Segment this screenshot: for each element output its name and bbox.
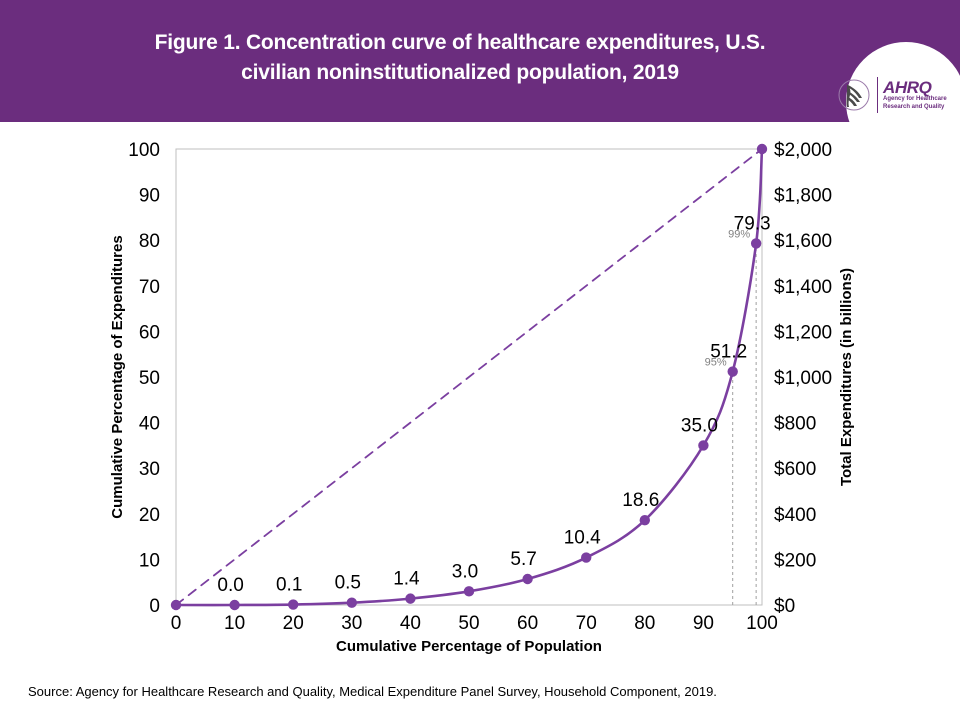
data-point-label: 1.4	[393, 569, 420, 590]
data-point-label: 10.4	[564, 528, 601, 549]
data-point-label: 0.1	[276, 575, 302, 596]
x-axis-tick-label: 90	[693, 613, 714, 634]
data-point-marker	[640, 515, 650, 525]
x-axis-tick-label: 20	[283, 613, 304, 634]
logo-acronym: AHRQ	[883, 79, 954, 96]
x-axis-tick-label: 10	[224, 613, 245, 634]
data-point-marker	[171, 600, 181, 610]
data-point-marker	[698, 440, 708, 450]
y-axis-tick-label: 0	[149, 596, 160, 617]
x-axis-tick-label: 70	[576, 613, 597, 634]
y2-axis-tick-label: $1,200	[774, 322, 832, 343]
y-axis-title: Cumulative Percentage of Expenditures	[109, 235, 126, 518]
y-axis-tick-label: 50	[139, 368, 160, 389]
data-point-marker	[522, 574, 532, 584]
data-point-marker	[405, 593, 415, 603]
page-title: Figure 1. Concentration curve of healthc…	[80, 28, 840, 88]
x-axis-tick-labels: 0102030405060708090100	[171, 613, 778, 634]
y-axis-tick-label: 70	[139, 277, 160, 298]
x-axis-tick-label: 100	[746, 613, 778, 634]
data-point-marker	[728, 366, 738, 376]
page-title-line-1: Figure 1. Concentration curve of healthc…	[80, 28, 840, 58]
y2-axis-tick-label: $1,400	[774, 277, 832, 298]
y-axis-tick-label: 30	[139, 459, 160, 480]
x-axis-tick-label: 40	[400, 613, 421, 634]
x-axis-tick-label: 60	[517, 613, 538, 634]
x-axis-tick-label: 80	[634, 613, 655, 634]
data-point-label: 0.5	[335, 573, 361, 594]
logo-text: AHRQ Agency for Healthcare Research and …	[883, 79, 954, 111]
y-axis-tick-label: 100	[128, 140, 160, 161]
y2-axis-tick-label: $200	[774, 550, 816, 571]
data-point-marker	[288, 599, 298, 609]
data-point-marker	[464, 586, 474, 596]
header-band: Figure 1. Concentration curve of healthc…	[0, 0, 960, 122]
logo-divider	[877, 77, 878, 113]
logo-tagline-line-2: Research and Quality	[883, 104, 954, 112]
hhs-eagle-mark-icon	[838, 75, 874, 115]
concentration-curve-chart: 0102030405060708090100 $0$200$400$600$80…	[0, 122, 960, 667]
y-axis-tick-label: 90	[139, 186, 160, 207]
data-point-marker	[229, 600, 239, 610]
y2-axis-title: Total Expenditures (in billions)	[838, 268, 855, 486]
data-point-label: 35.0	[681, 415, 718, 436]
y-axis-tick-label: 80	[139, 231, 160, 252]
data-point-label: 51.2	[710, 342, 747, 363]
y2-axis-tick-label: $1,000	[774, 368, 832, 389]
x-axis-title: Cumulative Percentage of Population	[336, 638, 602, 655]
data-point-label: 18.6	[622, 490, 659, 511]
data-point-marker	[347, 598, 357, 608]
data-point-label: 79.3	[734, 213, 771, 234]
y2-axis-tick-labels: $0$200$400$600$800$1,000$1,200$1,400$1,6…	[774, 140, 832, 617]
data-point-label: 5.7	[510, 549, 536, 570]
logo-inner: AHRQ Agency for Healthcare Research and …	[838, 72, 954, 118]
chart-region: 0102030405060708090100 $0$200$400$600$80…	[0, 122, 960, 667]
y-axis-tick-labels: 0102030405060708090100	[128, 140, 160, 617]
data-point-label: 3.0	[452, 561, 478, 582]
page-title-line-2: civilian noninstitutionalized population…	[80, 58, 840, 88]
data-point-marker	[581, 552, 591, 562]
data-point-marker	[751, 238, 761, 248]
y2-axis-tick-label: $1,600	[774, 231, 832, 252]
y-axis-tick-label: 60	[139, 322, 160, 343]
y2-axis-tick-label: $600	[774, 459, 816, 480]
logo-tagline-line-1: Agency for Healthcare	[883, 96, 954, 104]
source-note: Source: Agency for Healthcare Research a…	[28, 684, 717, 699]
data-point-marker	[757, 144, 767, 154]
y2-axis-tick-label: $800	[774, 414, 816, 435]
data-point-label: 0.0	[217, 575, 243, 596]
x-axis-tick-label: 0	[171, 613, 182, 634]
y-axis-tick-label: 10	[139, 550, 160, 571]
x-axis-tick-label: 30	[341, 613, 362, 634]
x-axis-tick-label: 50	[458, 613, 479, 634]
y2-axis-tick-label: $2,000	[774, 140, 832, 161]
y-axis-tick-label: 40	[139, 414, 160, 435]
ahrq-logo: AHRQ Agency for Healthcare Research and …	[828, 64, 960, 122]
y2-axis-tick-label: $400	[774, 505, 816, 526]
y2-axis-tick-label: $1,800	[774, 186, 832, 207]
y-axis-tick-label: 20	[139, 505, 160, 526]
